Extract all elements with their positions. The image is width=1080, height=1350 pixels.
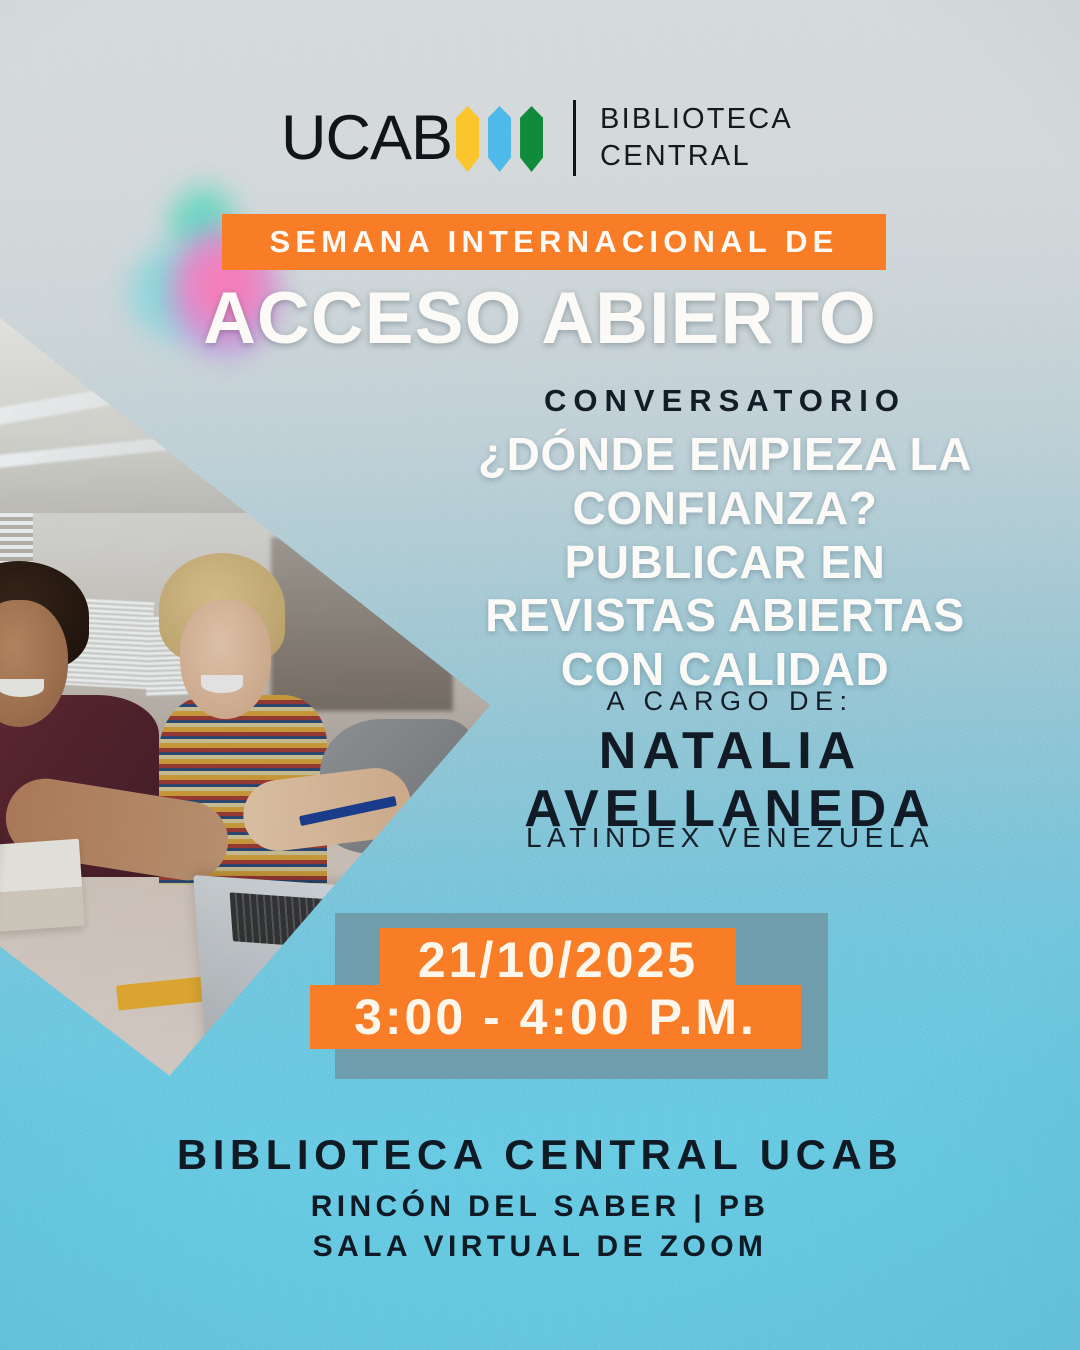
schedule-time-box: 3:00 - 4:00 P.M. bbox=[310, 985, 801, 1049]
schedule-date-box: 21/10/2025 bbox=[380, 928, 736, 992]
logo-subtitle-line2: CENTRAL bbox=[600, 138, 793, 175]
logo-subtitle: BIBLIOTECA CENTRAL bbox=[600, 101, 793, 175]
ucab-logo-marks bbox=[456, 106, 543, 172]
schedule-date-text: 21/10/2025 bbox=[418, 931, 698, 989]
ucab-wordmark: UCAB bbox=[281, 107, 452, 170]
logo-vertical-divider bbox=[573, 100, 576, 176]
venue-main: BIBLIOTECA CENTRAL UCAB bbox=[0, 1131, 1080, 1179]
event-title-line-2: CONFIANZA? bbox=[430, 482, 1020, 536]
event-title-line-4: REVISTAS ABIERTAS bbox=[430, 589, 1020, 643]
logo-leaf-yellow-icon bbox=[456, 106, 479, 172]
logo-leaf-green-icon bbox=[520, 106, 543, 172]
event-title-line-1: ¿DÓNDE EMPIEZA LA bbox=[430, 428, 1020, 482]
schedule-time-text: 3:00 - 4:00 P.M. bbox=[354, 988, 757, 1046]
venue-details: RINCÓN DEL SABER | PB SALA VIRTUAL DE ZO… bbox=[0, 1187, 1080, 1267]
event-poster: UCAB BIBLIOTECA CENTRAL SEMANA INTERNACI… bbox=[0, 0, 1080, 1350]
event-kicker: CONVERSATORIO bbox=[440, 383, 1010, 419]
ucab-logo: UCAB BIBLIOTECA CENTRAL bbox=[281, 100, 793, 176]
event-title: ¿DÓNDE EMPIEZA LA CONFIANZA? PUBLICAR EN… bbox=[430, 428, 1020, 697]
speaker-affiliation: LATINDEX VENEZUELA bbox=[450, 822, 1010, 854]
week-banner-text: SEMANA INTERNACIONAL DE bbox=[269, 224, 838, 260]
speaker-name-line-1: NATALIA bbox=[440, 722, 1020, 780]
week-banner: SEMANA INTERNACIONAL DE bbox=[222, 214, 886, 270]
speaker-intro: A CARGO DE: bbox=[450, 686, 1010, 717]
speaker-name: NATALIA AVELLANEDA bbox=[440, 722, 1020, 838]
venue-details-line-1: RINCÓN DEL SABER | PB bbox=[0, 1187, 1080, 1227]
logo-subtitle-line1: BIBLIOTECA bbox=[600, 101, 793, 138]
logo-leaf-blue-icon bbox=[488, 106, 511, 172]
event-title-line-3: PUBLICAR EN bbox=[430, 536, 1020, 590]
venue-details-line-2: SALA VIRTUAL DE ZOOM bbox=[0, 1227, 1080, 1267]
poster-headline: ACCESO ABIERTO bbox=[0, 277, 1080, 360]
